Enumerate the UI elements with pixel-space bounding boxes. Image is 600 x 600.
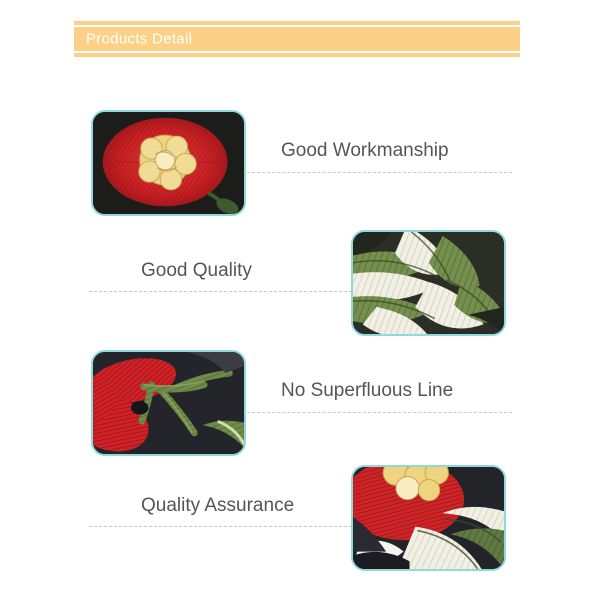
feature-row: Quality Assurance xyxy=(0,459,600,579)
product-thumbnail-good-quality[interactable] xyxy=(351,230,506,336)
embroidery-image-red-flower-sequins xyxy=(93,112,244,214)
feature-label: Good Quality xyxy=(141,260,252,282)
page-title: Products Detail xyxy=(86,31,192,48)
embroidery-image-red-flower-green-stems xyxy=(93,352,244,454)
product-thumbnail-good-workmanship[interactable] xyxy=(91,110,246,216)
feature-label: No Superfluous Line xyxy=(281,380,453,402)
header-rule-top xyxy=(74,21,520,25)
product-thumbnail-no-superfluous-line[interactable] xyxy=(91,350,246,456)
embroidery-image-green-white-leaves xyxy=(353,232,504,334)
feature-row: Good Workmanship xyxy=(0,104,600,224)
page-header-banner: Products Detail xyxy=(74,21,520,57)
header-bar: Products Detail xyxy=(74,27,520,51)
feature-divider xyxy=(247,172,512,173)
feature-label: Good Workmanship xyxy=(281,140,449,162)
feature-row: No Superfluous Line xyxy=(0,344,600,464)
embroidery-image-red-flower-sequins-leaves xyxy=(353,467,504,569)
feature-divider xyxy=(89,526,352,527)
product-thumbnail-quality-assurance[interactable] xyxy=(351,465,506,571)
feature-divider xyxy=(247,412,512,413)
feature-divider xyxy=(89,291,352,292)
feature-label: Quality Assurance xyxy=(141,495,294,517)
header-rule-bottom xyxy=(74,53,520,57)
feature-row: Good Quality xyxy=(0,224,600,344)
